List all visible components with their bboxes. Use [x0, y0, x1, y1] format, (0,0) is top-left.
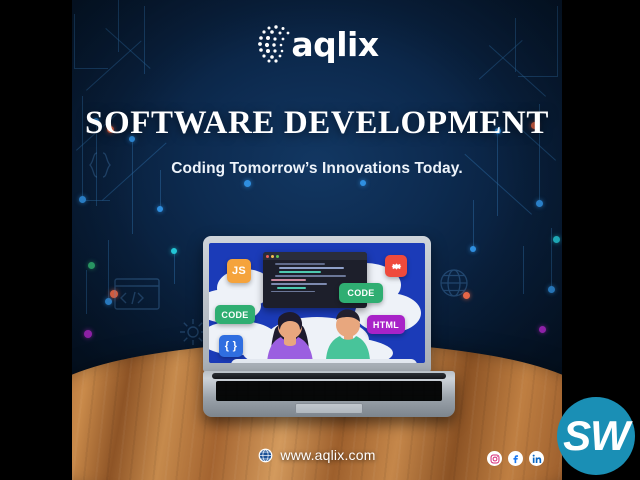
brand-logo: aqlix	[72, 20, 562, 68]
globe-icon	[258, 448, 273, 463]
badge-code-left: CODE	[215, 305, 255, 324]
website-url[interactable]: www.aqlix.com	[280, 447, 375, 463]
traffic-light-red	[266, 255, 269, 258]
globe-icon	[439, 268, 469, 298]
laptop-trackpad	[295, 403, 363, 414]
traffic-light-green	[276, 255, 279, 258]
watermark-badge: SW	[557, 397, 635, 475]
laptop-base	[203, 371, 455, 417]
social-links	[487, 451, 544, 466]
laptop-lid: JS CODE CODE HTML { }	[203, 236, 431, 372]
laptop-hinge	[212, 373, 446, 379]
logo-wordmark: aqlix	[291, 28, 378, 61]
dot-sphere-icon	[255, 23, 297, 65]
badge-gear	[385, 255, 407, 277]
person-left	[261, 307, 319, 363]
poster: aqlix SOFTWARE DEVELOPMENT Coding Tomorr…	[72, 0, 562, 480]
editor-titlebar	[263, 252, 367, 260]
linkedin-icon[interactable]	[529, 451, 544, 466]
instagram-icon[interactable]	[487, 451, 502, 466]
code-window-icon	[114, 278, 160, 310]
watermark-text: SW	[563, 412, 629, 460]
badge-js: JS	[227, 259, 251, 283]
page-title: SOFTWARE DEVELOPMENT	[72, 105, 562, 142]
desk-surface	[231, 359, 417, 363]
tagline: Coding Tomorrow’s Innovations Today.	[72, 160, 562, 178]
person-right	[321, 305, 375, 363]
laptop: JS CODE CODE HTML { }	[203, 236, 431, 417]
gear-icon	[390, 260, 403, 273]
laptop-keyboard	[216, 381, 442, 401]
badge-code-right: CODE	[339, 283, 383, 303]
poster-canvas: aqlix SOFTWARE DEVELOPMENT Coding Tomorr…	[0, 0, 640, 480]
traffic-light-yellow	[271, 255, 274, 258]
laptop-screen: JS CODE CODE HTML { }	[209, 243, 425, 363]
badge-braces: { }	[219, 335, 243, 357]
facebook-icon[interactable]	[508, 451, 523, 466]
